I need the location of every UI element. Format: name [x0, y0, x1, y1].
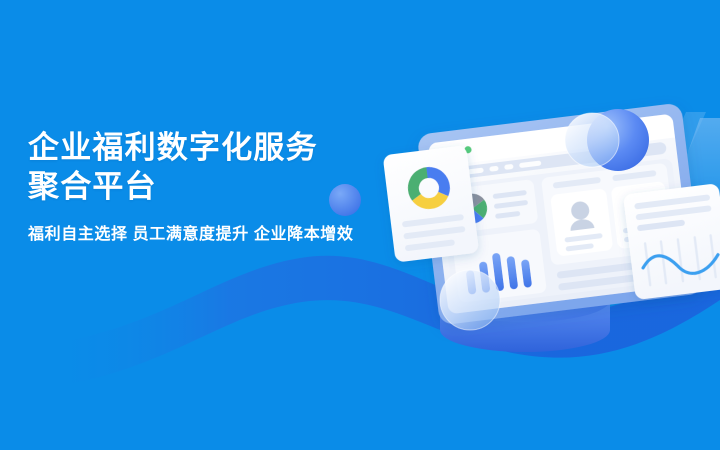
- page-title: 企业福利数字化服务 聚合平台: [28, 128, 428, 206]
- page-title-line-2: 聚合平台: [28, 167, 428, 206]
- sphere-frosted-bottom: [440, 270, 500, 330]
- promo-banner: 企业福利数字化服务 聚合平台 福利自主选择 员工满意度提升 企业降本增效: [0, 0, 720, 450]
- page-title-line-1: 企业福利数字化服务: [28, 130, 318, 165]
- avatar-card: [550, 188, 613, 256]
- sphere-frosted-top: [565, 113, 619, 167]
- page-subtitle: 福利自主选择 员工满意度提升 企业降本增效: [28, 224, 428, 246]
- headline-block: 企业福利数字化服务 聚合平台 福利自主选择 员工满意度提升 企业降本增效: [28, 128, 428, 246]
- card-line-chart: [623, 183, 720, 300]
